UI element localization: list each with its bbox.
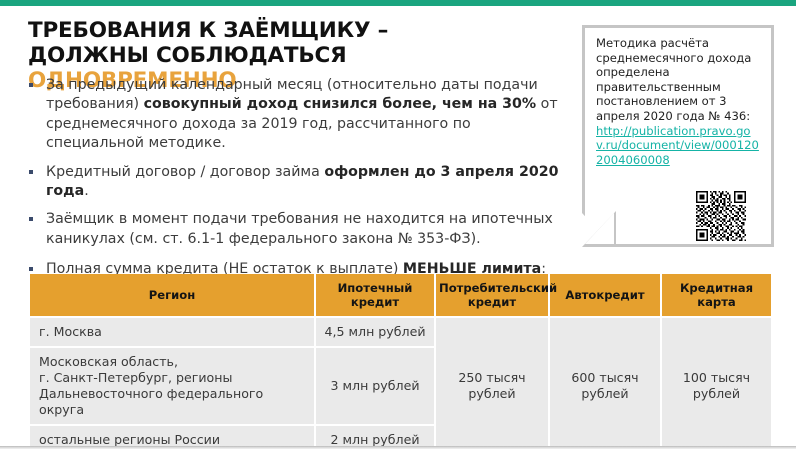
qr-code-icon [696,191,746,241]
list-item: Заёмщик в момент подачи требования не на… [26,210,566,249]
cell-mortgage: 3 млн рублей [316,348,434,424]
slide-bottom-margin [0,449,796,460]
methodology-note-card: Методика расчёта среднемесячного дохода … [582,25,774,247]
table-header-consumer: Потребительский кредит [436,274,548,316]
page-title-line1: ТРЕБОВАНИЯ К ЗАЁМЩИКУ – [28,18,388,43]
cell-card-merged: 100 тысяч рублей [662,318,771,454]
note-text-intro: Методика расчёта среднемесячного дохода … [596,36,751,123]
list-item-text: Кредитный договор / договор займа оформл… [46,164,558,199]
note-text: Методика расчёта среднемесячного дохода … [596,36,760,167]
top-accent-bar [0,0,796,6]
table-header-region: Регион [30,274,314,316]
table-header-row: Регион Ипотечный кредит Потребительский … [30,274,771,316]
bullet-marker-icon [29,83,33,87]
slide-canvas: ТРЕБОВАНИЯ К ЗАЁМЩИКУ – ДОЛЖНЫ СОБЛЮДАТЬ… [0,0,796,460]
note-folded-corner-icon [582,211,616,247]
list-item-text: Заёмщик в момент подачи требования не на… [46,211,553,246]
cell-consumer-merged: 250 тысяч рублей [436,318,548,454]
table-row: г. Москва 4,5 млн рублей 250 тысяч рубле… [30,318,771,346]
cell-auto-merged: 600 тысяч рублей [550,318,660,454]
list-item-text: За предыдущий календарный месяц (относит… [46,77,558,151]
requirements-list: За предыдущий календарный месяц (относит… [26,76,566,289]
list-item: Кредитный договор / договор займа оформл… [26,163,566,202]
credit-limits-table: Регион Ипотечный кредит Потребительский … [28,272,773,456]
list-item: За предыдущий календарный месяц (относит… [26,76,566,154]
bullet-marker-icon [29,170,33,174]
bullet-marker-icon [29,267,33,271]
table-header-auto: Автокредит [550,274,660,316]
cell-mortgage: 4,5 млн рублей [316,318,434,346]
table-header-card: Кредитная карта [662,274,771,316]
methodology-link[interactable]: http://publication.pravo.gov.ru/document… [596,124,759,167]
page-title-line2: ДОЛЖНЫ СОБЛЮДАТЬСЯ [28,43,346,68]
cell-region: г. Москва [30,318,314,346]
table-header-mortgage: Ипотечный кредит [316,274,434,316]
cell-region: Московская область,г. Санкт-Петербург, р… [30,348,314,424]
bullet-marker-icon [29,217,33,221]
